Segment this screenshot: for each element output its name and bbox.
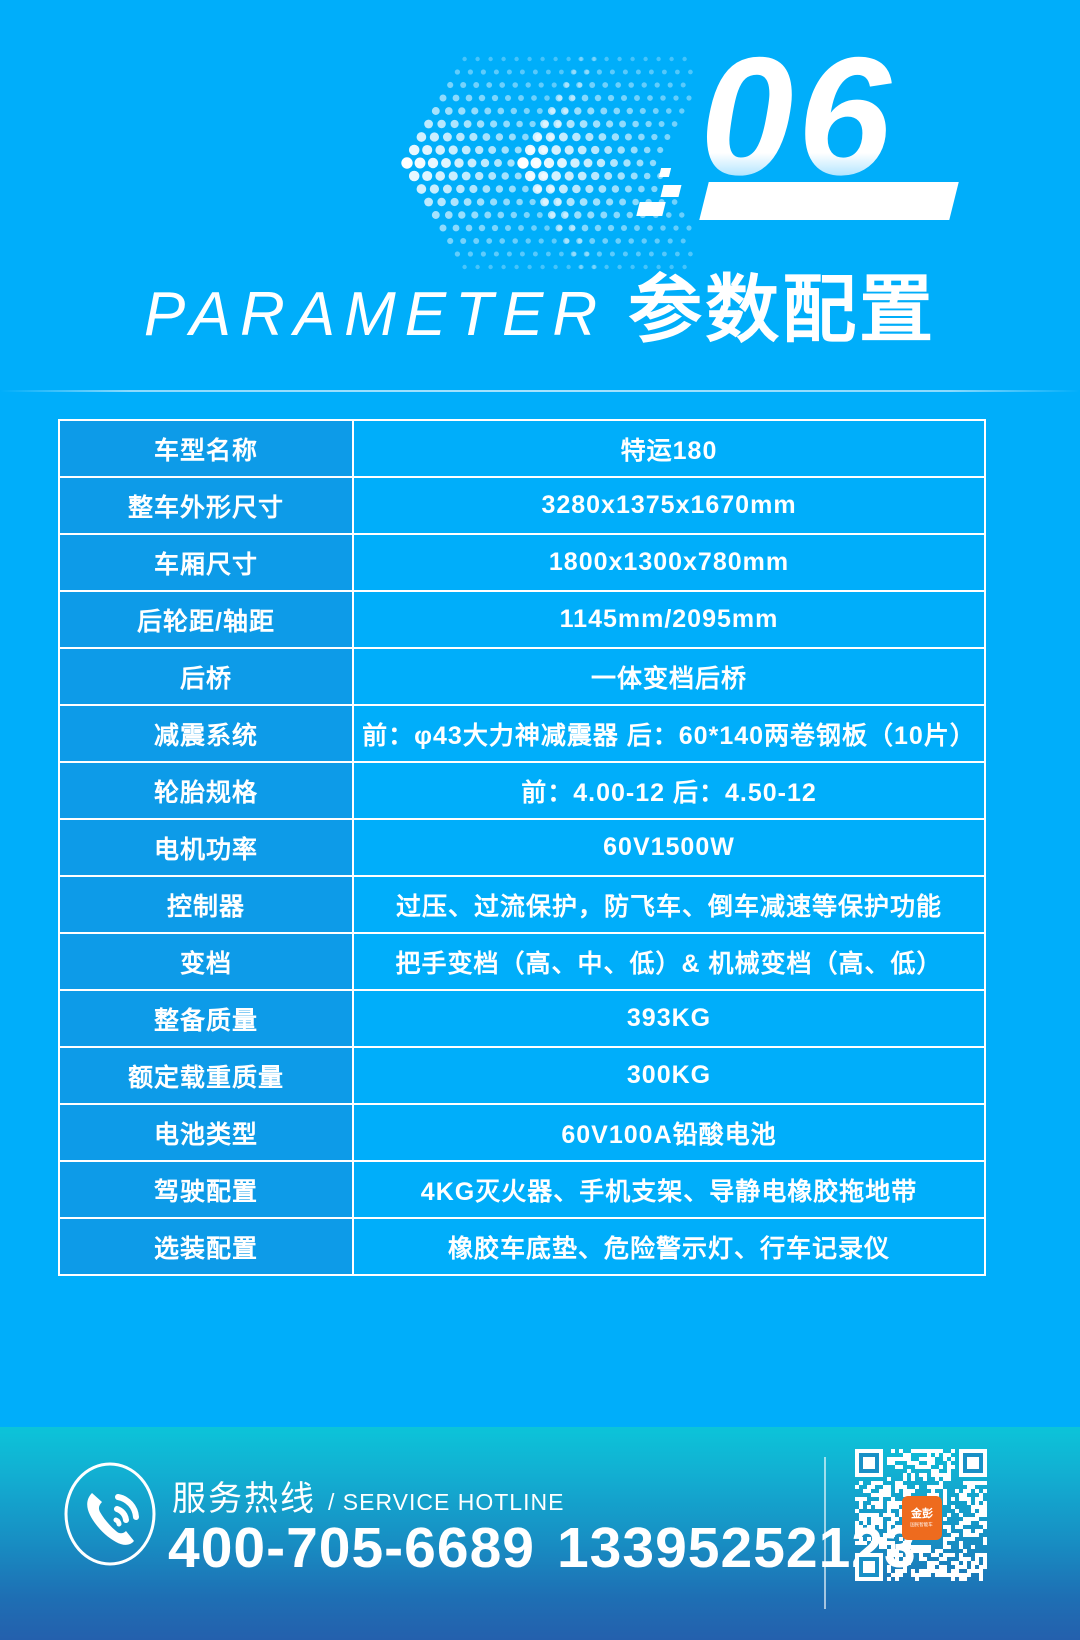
page-title-cn: 参数配置 xyxy=(628,250,936,357)
spec-value: 300KG xyxy=(353,1047,985,1104)
spec-key: 变档 xyxy=(59,933,353,990)
table-row: 减震系统前：φ43大力神减震器 后：60*140两卷钢板（10片） xyxy=(59,705,985,762)
spec-key: 电机功率 xyxy=(59,819,353,876)
spec-key: 车型名称 xyxy=(59,420,353,477)
spec-key: 后桥 xyxy=(59,648,353,705)
table-row: 整备质量393KG xyxy=(59,990,985,1047)
table-row: 车厢尺寸1800x1300x780mm xyxy=(59,534,985,591)
spec-key: 驾驶配置 xyxy=(59,1161,353,1218)
spec-value: 橡胶车底垫、危险警示灯、行车记录仪 xyxy=(353,1218,985,1275)
spec-value: 把手变档（高、中、低）& 机械变档（高、低） xyxy=(353,933,985,990)
table-row: 电机功率60V1500W xyxy=(59,819,985,876)
spec-key: 整备质量 xyxy=(59,990,353,1047)
header-banner: 06 PARAMETER 参数配置 xyxy=(0,0,1080,392)
qr-center-logo: 金彭 国民智能车 xyxy=(902,1496,942,1540)
hotline-label-en: / SERVICE HOTLINE xyxy=(328,1489,564,1516)
hotline-label: 服务热线 / SERVICE HOTLINE xyxy=(172,1471,564,1520)
phone-call-icon xyxy=(62,1459,158,1569)
table-row: 控制器过压、过流保护，防飞车、倒车减速等保护功能 xyxy=(59,876,985,933)
table-row: 轮胎规格前：4.00-12 后：4.50-12 xyxy=(59,762,985,819)
spec-value: 60V100A铅酸电池 xyxy=(353,1104,985,1161)
spec-key: 车厢尺寸 xyxy=(59,534,353,591)
qr-code[interactable]: 金彭 国民智能车 xyxy=(855,1449,987,1581)
spec-key: 电池类型 xyxy=(59,1104,353,1161)
spec-value: 60V1500W xyxy=(353,819,985,876)
spec-value: 1800x1300x780mm xyxy=(353,534,985,591)
halftone-chevrons-icon xyxy=(395,45,695,275)
spec-value: 3280x1375x1670mm xyxy=(353,477,985,534)
spec-value: 特运180 xyxy=(353,420,985,477)
table-row: 后轮距/轴距1145mm/2095mm xyxy=(59,591,985,648)
table-row: 车型名称特运180 xyxy=(59,420,985,477)
table-row: 整车外形尺寸3280x1375x1670mm xyxy=(59,477,985,534)
spec-key: 后轮距/轴距 xyxy=(59,591,353,648)
table-row: 电池类型60V100A铅酸电池 xyxy=(59,1104,985,1161)
hotline-label-cn: 服务热线 xyxy=(172,1471,316,1520)
table-row: 后桥一体变档后桥 xyxy=(59,648,985,705)
spec-key: 整车外形尺寸 xyxy=(59,477,353,534)
spec-key: 额定载重质量 xyxy=(59,1047,353,1104)
page-title: PARAMETER 参数配置 xyxy=(0,250,1080,340)
spec-key: 选装配置 xyxy=(59,1218,353,1275)
page-title-en: PARAMETER xyxy=(144,279,606,350)
spec-value: 393KG xyxy=(353,990,985,1047)
spec-key: 轮胎规格 xyxy=(59,762,353,819)
table-row: 变档把手变档（高、中、低）& 机械变档（高、低） xyxy=(59,933,985,990)
footer-contact-bar: 服务热线 / SERVICE HOTLINE 400-705-668913395… xyxy=(0,1427,1080,1640)
spec-value: 过压、过流保护，防飞车、倒车减速等保护功能 xyxy=(353,876,985,933)
speed-dash-1 xyxy=(661,185,682,197)
phone-number-primary[interactable]: 400-705-6689 xyxy=(168,1516,535,1580)
table-row: 驾驶配置4KG灭火器、手机支架、导静电橡胶拖地带 xyxy=(59,1161,985,1218)
table-row: 额定载重质量300KG xyxy=(59,1047,985,1104)
spec-value: 前：4.00-12 后：4.50-12 xyxy=(353,762,985,819)
spec-value: 一体变档后桥 xyxy=(353,648,985,705)
spec-key: 控制器 xyxy=(59,876,353,933)
spec-value: 前：φ43大力神减震器 后：60*140两卷钢板（10片） xyxy=(353,705,985,762)
table-row: 选装配置橡胶车底垫、危险警示灯、行车记录仪 xyxy=(59,1218,985,1275)
spec-key: 减震系统 xyxy=(59,705,353,762)
section-number: 06 xyxy=(700,32,895,200)
footer-divider xyxy=(824,1457,826,1609)
header-divider xyxy=(0,390,1080,392)
section-number-block: 06 xyxy=(690,40,970,240)
phone-numbers[interactable]: 400-705-668913395252123 xyxy=(168,1515,917,1581)
qr-logo-tagline: 国民智能车 xyxy=(911,1523,934,1528)
speed-dash-2 xyxy=(636,202,665,216)
spec-value: 1145mm/2095mm xyxy=(353,591,985,648)
spec-table: 车型名称特运180整车外形尺寸3280x1375x1670mm车厢尺寸1800x… xyxy=(58,419,986,1276)
spec-value: 4KG灭火器、手机支架、导静电橡胶拖地带 xyxy=(353,1161,985,1218)
qr-logo-brand: 金彭 xyxy=(911,1509,933,1520)
